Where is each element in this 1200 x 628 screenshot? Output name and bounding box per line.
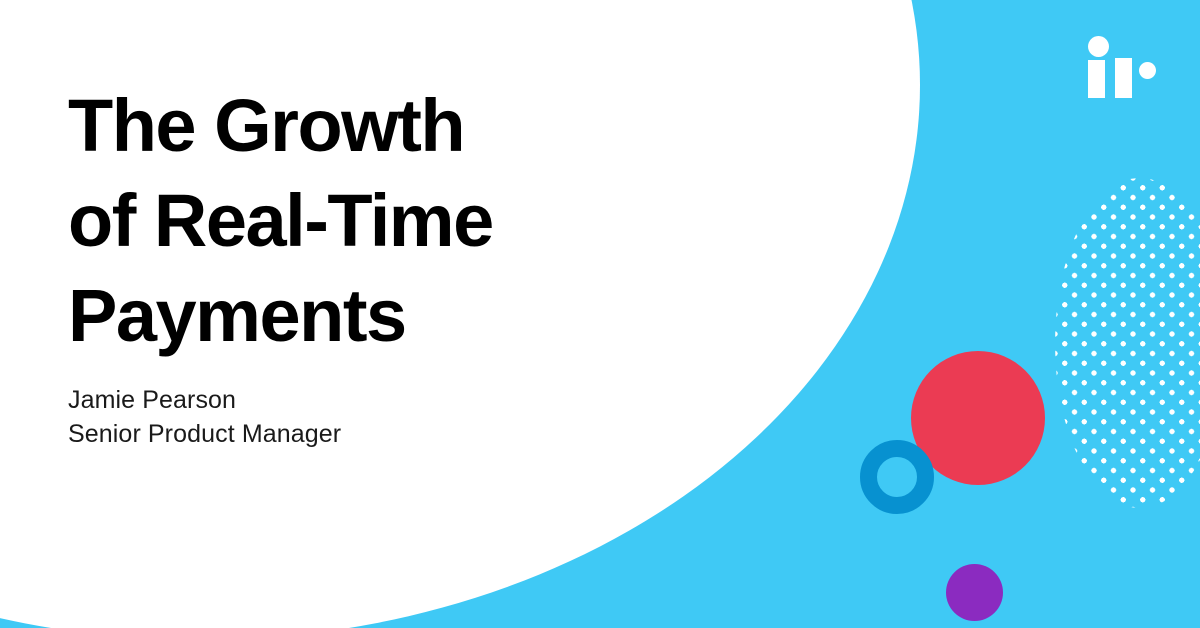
blue-ring-icon (860, 440, 934, 514)
logo-bar-left-icon (1088, 60, 1105, 98)
presenter-role: Senior Product Manager (68, 417, 588, 451)
purple-circle-icon (946, 564, 1003, 621)
company-logo-icon (1088, 36, 1156, 98)
logo-dot-top-icon (1088, 36, 1109, 57)
title-slide: The Growth of Real-Time Payments Jamie P… (0, 0, 1200, 628)
page-title: The Growth of Real-Time Payments (68, 78, 708, 363)
logo-dot-right-icon (1139, 62, 1156, 79)
presenter-name: Jamie Pearson (68, 383, 588, 417)
presenter-block: Jamie Pearson Senior Product Manager (68, 383, 588, 451)
title-block: The Growth of Real-Time Payments (68, 78, 708, 363)
logo-bar-right-icon (1115, 58, 1132, 98)
